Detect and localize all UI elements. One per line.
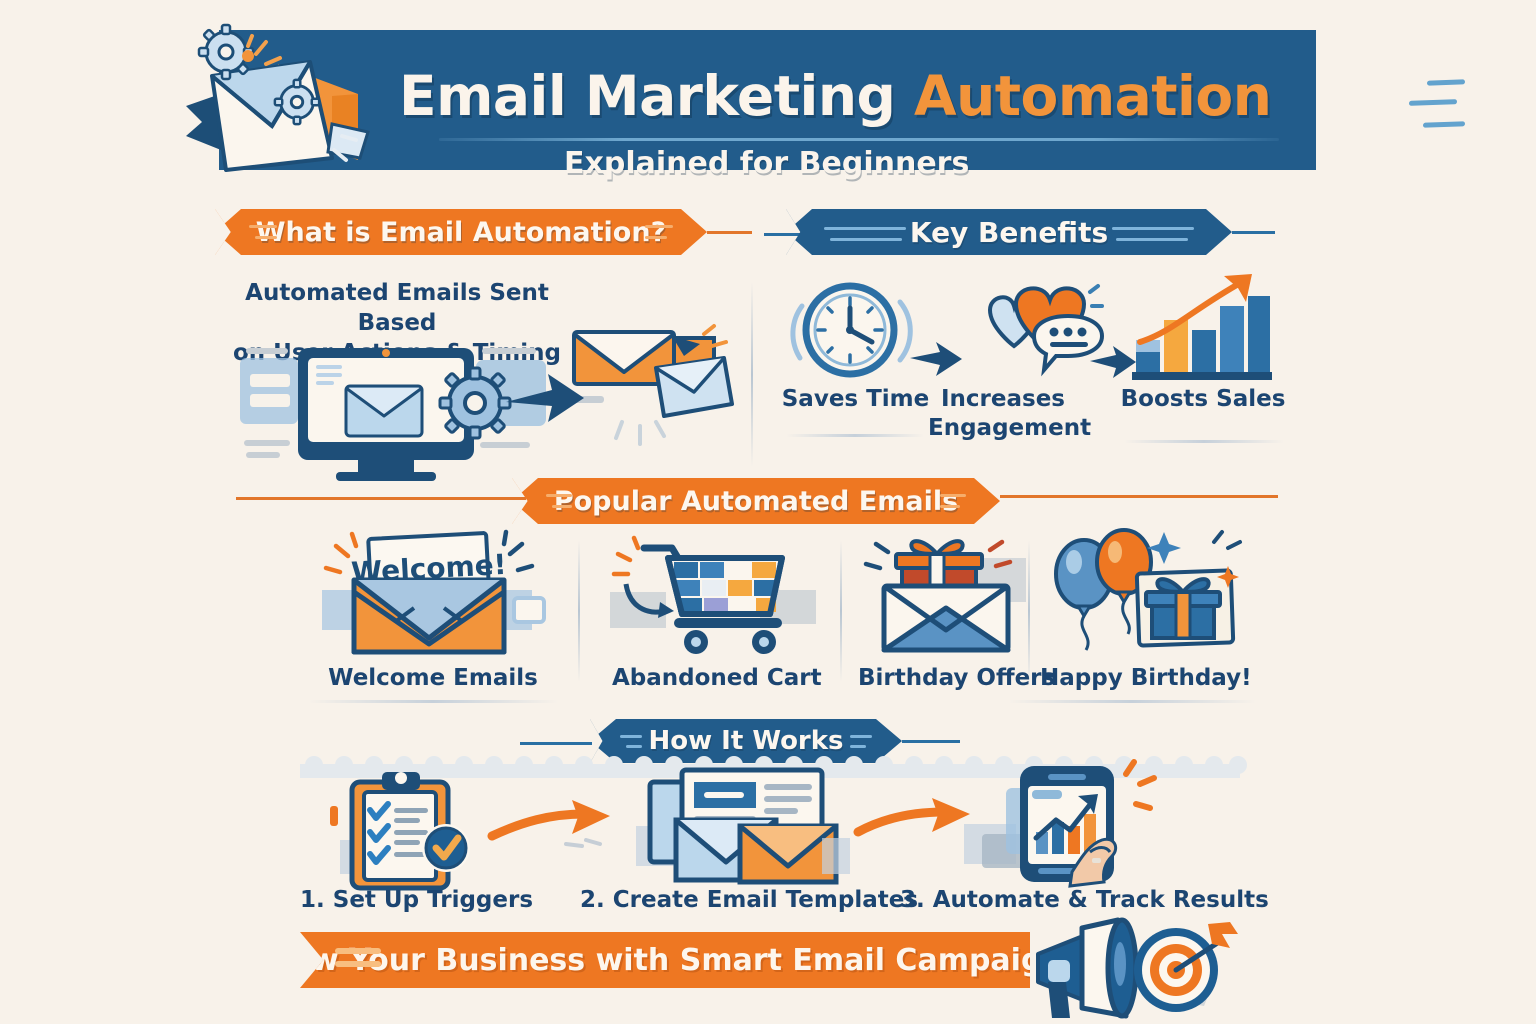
benefit-label-2: Boosts Sales (1118, 385, 1288, 414)
arrow-step-1 (490, 800, 614, 854)
ribbon-notch-left (512, 478, 538, 524)
ribbon-line-l2 (626, 745, 642, 748)
ribbon-tail-left-how (520, 742, 592, 745)
section-divider-vertical (751, 282, 753, 467)
title-main: Email Marketing (399, 64, 914, 128)
page-title: Email Marketing Automation (399, 64, 1299, 128)
ribbon-line-r1 (645, 225, 673, 228)
clock-icon (792, 278, 922, 388)
ribbon-line-l1 (249, 225, 277, 228)
ribbon-line-r1 (940, 494, 966, 497)
ribbon-line-l2 (830, 238, 902, 241)
arrow-benefit-2 (1088, 346, 1138, 378)
phone-analytics-icon (964, 760, 1164, 888)
ribbon-line-r1 (1112, 227, 1194, 230)
ribbon-tail-right-popular (986, 495, 1278, 498)
popular-underline-right (1008, 700, 1256, 703)
bar-chart-up-icon (1132, 272, 1272, 390)
ribbon-line-l2 (552, 505, 572, 508)
ribbon-line-l1 (546, 494, 572, 497)
page-subtitle: Explained for Beginners (564, 146, 1264, 181)
shopping-cart-icon (610, 534, 822, 658)
what-is-lead-line1: Automated Emails Sent Based (228, 278, 566, 338)
step-label-2: 3. Automate & Track Results (900, 886, 1240, 915)
ribbon-line-r2 (645, 236, 667, 239)
open-envelope-welcome-icon: Welcome! (318, 532, 548, 660)
envelope-gears-icon (182, 40, 412, 180)
step-label-0: 1. Set Up Triggers (300, 886, 530, 915)
email-template-icon (636, 768, 850, 888)
popular-divider-1 (578, 540, 580, 682)
gift-envelope-icon (858, 534, 1038, 656)
section-ribbon-popular: Popular Automated Emails (512, 478, 1000, 524)
benefit-label-0: Saves Time (768, 385, 943, 414)
ribbon-label: What is Email Automation? (256, 217, 666, 248)
ribbon-line-r1 (850, 735, 872, 738)
benefit-underline-2 (1124, 440, 1284, 443)
ribbon-notch-left (786, 209, 812, 255)
ribbon-line-l2 (255, 236, 277, 239)
infographic-canvas: Email Marketing Automation Explained for… (0, 0, 1536, 1024)
ribbon-line-r2 (940, 505, 960, 508)
balloons-gift-card-icon (1042, 528, 1242, 660)
ribbon-label: Key Benefits (910, 216, 1108, 249)
ribbon-tail-left-popular (236, 497, 526, 500)
hearts-chat-icon (952, 276, 1102, 388)
ribbon-notch-left (215, 209, 241, 255)
cta-banner: Grow Your Business with Smart Email Camp… (300, 932, 1030, 988)
popular-label-1: Abandoned Cart (612, 664, 820, 693)
ribbon-line-l1 (824, 227, 906, 230)
ribbon-line-r2 (850, 745, 866, 748)
header-dash-2 (1409, 99, 1457, 106)
ribbon-notch-right (974, 478, 1000, 524)
benefit-label-1: Increases Engagement (928, 385, 1078, 443)
arrow-step-2 (856, 798, 972, 850)
popular-divider-3 (1028, 540, 1030, 682)
popular-divider-2 (840, 540, 842, 682)
ribbon-line-l1 (620, 735, 642, 738)
section-ribbon-what-is: What is Email Automation? (215, 209, 707, 255)
popular-label-2: Birthday Offers (858, 664, 1038, 693)
monitor-email-gear-arrow-icon (232, 330, 732, 480)
ribbon-tail-left-benefits (764, 233, 804, 236)
ribbon-notch-right (1206, 209, 1232, 255)
step-label-1: 2. Create Email Templates (580, 886, 900, 915)
popular-label-3: Happy Birthday! (1040, 664, 1242, 693)
popular-label-0: Welcome Emails (328, 664, 538, 693)
megaphone-target-icon (1026, 920, 1246, 1024)
popular-underline-left (308, 700, 558, 703)
ribbon-line-r2 (1116, 238, 1188, 241)
section-ribbon-key-benefits: Key Benefits (786, 209, 1232, 255)
ribbon-label: Popular Automated Emails (554, 486, 958, 517)
ribbon-notch-right (681, 209, 707, 255)
header-dash-1 (1427, 79, 1465, 85)
header-dash-3 (1423, 121, 1465, 127)
benefit-underline-0 (786, 434, 924, 437)
cta-accent-lines (335, 948, 381, 974)
title-divider (439, 138, 1279, 141)
title-accent: Automation (914, 64, 1271, 128)
clipboard-check-icon (330, 770, 500, 890)
